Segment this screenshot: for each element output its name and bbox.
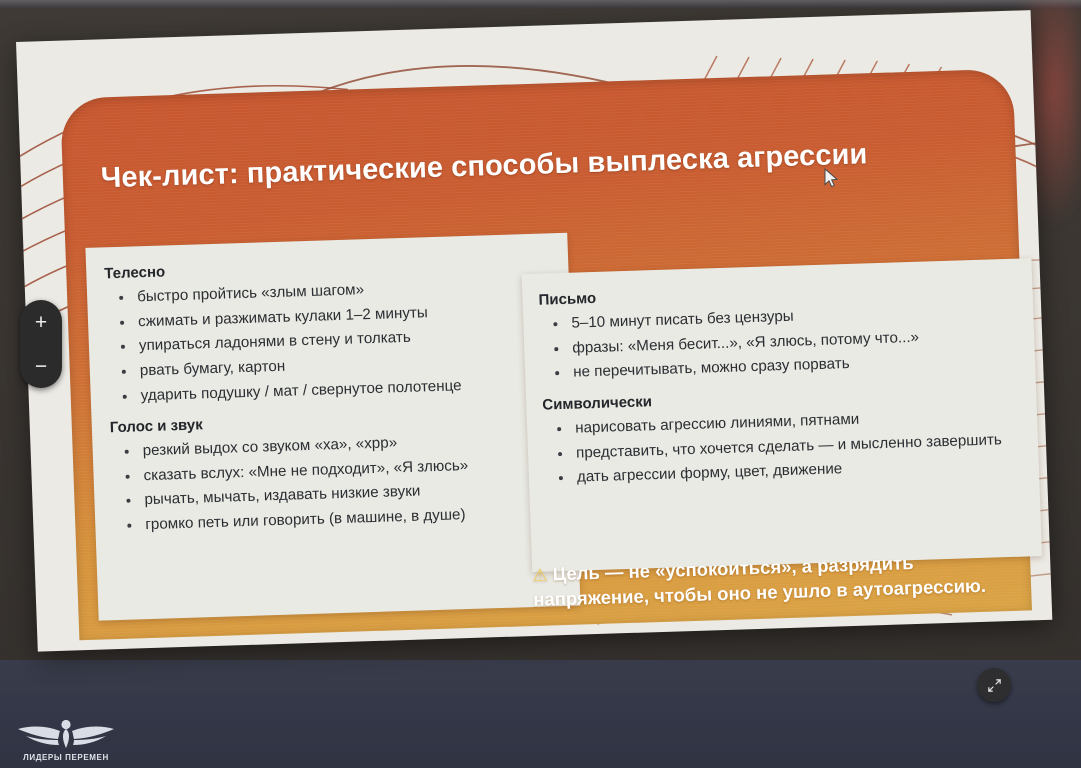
slide: Чек-лист: практические способы выплеска … [16,10,1052,651]
zoom-out-button[interactable]: − [20,356,62,377]
wings-emblem-logo [14,717,118,751]
card-left: Телесно быстро пройтись «злым шагом» сжи… [85,233,580,621]
section-list-simvolicheski: нарисовать агрессию линиями, пятнами пре… [543,402,1023,491]
section-list-golos-i-zvuk: резкий выдох со звуком «ха», «хрр» сказа… [110,426,561,539]
warning-triangle-icon: ⚠ [532,566,548,585]
fullscreen-button[interactable] [977,668,1011,702]
slide-content-panel: Чек-лист: практические способы выплеска … [60,69,1032,641]
slide-title: Чек-лист: практические способы выплеска … [100,135,996,196]
section-list-telesno: быстро пройтись «злым шагом» сжимать и р… [105,272,557,409]
zoom-control[interactable]: + − [20,300,62,388]
callout-text: Цель — не «успокоиться», а разрядить нап… [533,552,986,610]
expand-diagonal-icon [987,678,1002,693]
slide-canvas[interactable]: Чек-лист: практические способы выплеска … [16,10,1052,651]
viewer-bottom-bar [0,660,1081,768]
brand-logo-text: ЛИДЕРЫ ПЕРЕМЕН [23,753,109,762]
card-right: Письмо 5–10 минут писать без цензуры фра… [522,258,1042,572]
zoom-in-button[interactable]: + [20,312,62,333]
brand-logo: ЛИДЕРЫ ПЕРЕМЕН [6,717,126,762]
section-list-pismo: 5–10 минут писать без цензуры фразы: «Ме… [539,298,1019,387]
